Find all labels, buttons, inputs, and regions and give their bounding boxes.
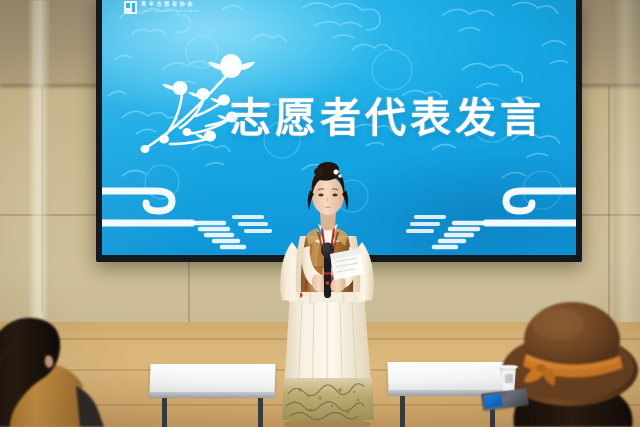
slide-title: 志愿者代表发言	[230, 92, 545, 144]
paper-cup-rim	[499, 365, 518, 369]
wall-column-right	[614, 0, 640, 340]
ruyi-cloud-ribbon-right-icon	[392, 167, 576, 255]
paper-cup-logo-icon	[505, 374, 513, 383]
desk-leg	[162, 398, 167, 427]
desk-leg	[400, 396, 405, 427]
audience-left	[0, 276, 140, 427]
logo-org-name-en: Youth Volunteer Association	[141, 9, 199, 14]
screen-logo: 青年志愿者协会 Youth Volunteer Association	[124, 1, 199, 14]
smartphone-screen	[483, 393, 502, 408]
ruyi-cloud-ribbon-left-icon	[102, 167, 286, 255]
logo-org-name-cn: 青年志愿者协会	[141, 2, 199, 9]
desk	[149, 364, 275, 394]
desk-edge	[150, 392, 275, 398]
wall-seam	[0, 214, 100, 216]
photo-scene: 青年志愿者协会 Youth Volunteer Association	[0, 0, 640, 427]
shield-logo-icon	[124, 1, 137, 14]
wall-seam	[188, 262, 190, 322]
speaker-person	[262, 162, 392, 427]
